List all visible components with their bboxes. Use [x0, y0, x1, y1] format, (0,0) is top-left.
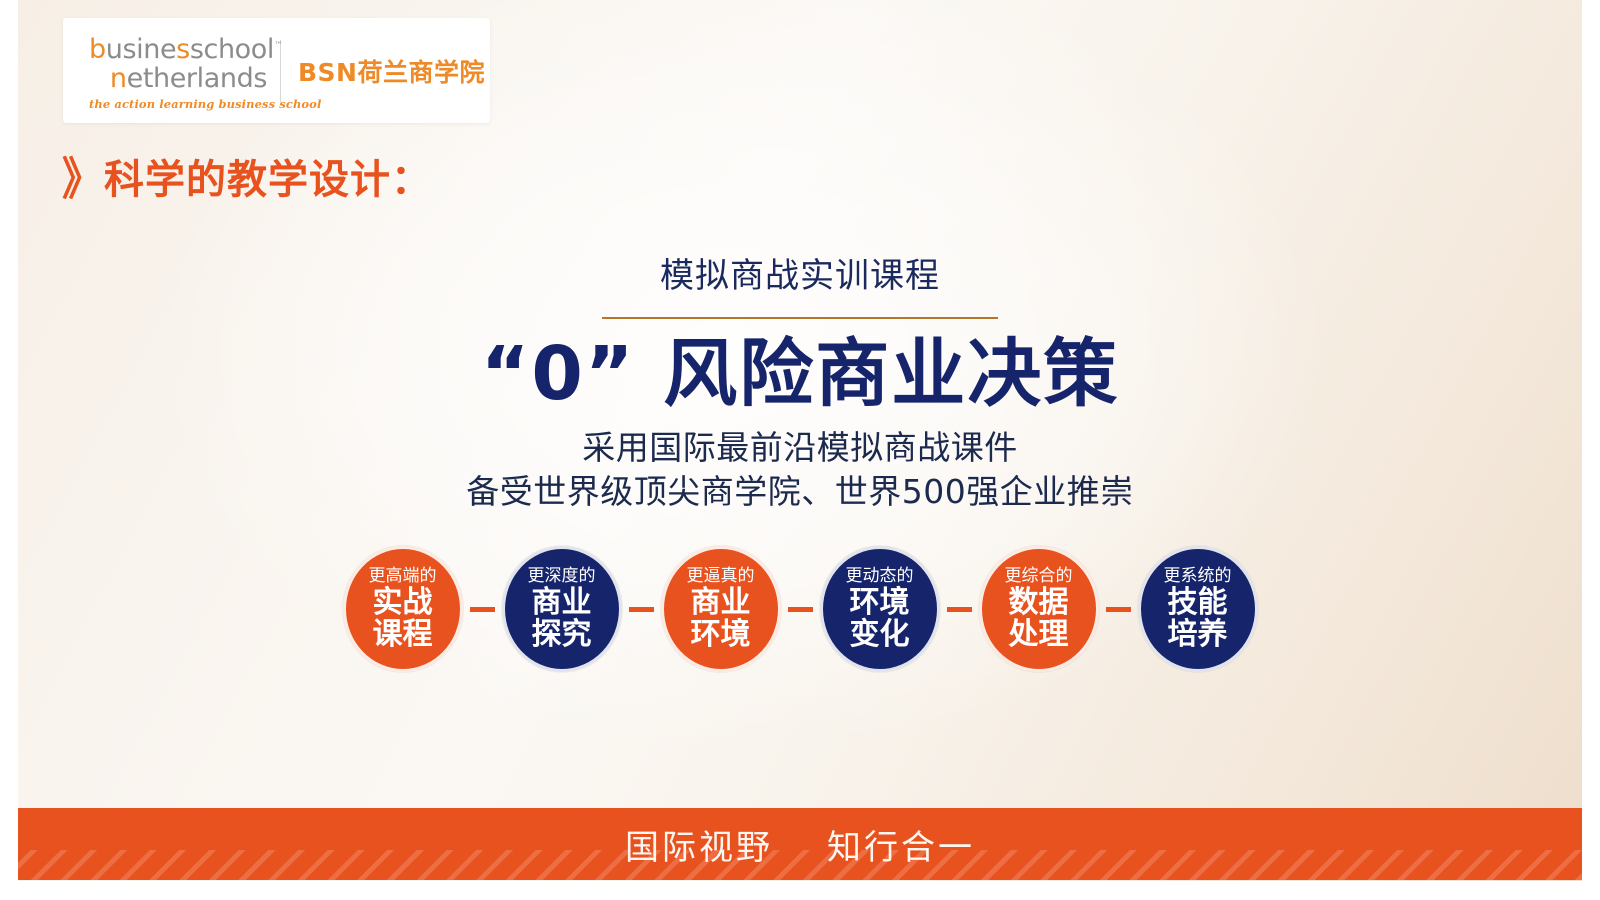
circle-connector-2 [629, 607, 654, 612]
feature-circle-1-main: 实战 课程 [373, 587, 433, 651]
feature-circle-6-main: 技能 培养 [1168, 587, 1228, 651]
feature-circle-2-top: 更深度的 [528, 568, 596, 585]
footer-slogan: 国际视野 知行合一 [18, 808, 1582, 880]
feature-circle-4-main-line2: 变化 [850, 619, 910, 651]
logo-chinese-name: BSN荷兰商学院 [298, 53, 485, 89]
logo-line-netherlands: netherlands [89, 65, 267, 93]
feature-circle-1-top: 更高端的 [369, 568, 437, 585]
circle-connector-3 [788, 607, 813, 612]
page-title: “0” 风险商业决策 [18, 333, 1582, 416]
feature-circle-6-main-line1: 技能 [1168, 587, 1228, 619]
brand-logo-card: businesschool™ netherlands the action le… [63, 18, 490, 123]
footer-slogan-part-2: 知行合一 [827, 820, 975, 869]
slide-canvas: businesschool™ netherlands the action le… [0, 0, 1600, 900]
logo-letter-n: n [110, 63, 127, 94]
feature-circle-5-main: 数据 处理 [1009, 587, 1069, 651]
logo-line-businesschool: businesschool™ [89, 32, 267, 64]
feature-circle-4: 更动态的 环境 变化 [820, 546, 940, 672]
logo-text-school: school [190, 34, 274, 65]
logo-text-usine: usine [106, 34, 176, 65]
feature-circle-2-main-line1: 商业 [532, 587, 592, 619]
feature-circle-3-main-line1: 商业 [691, 587, 751, 619]
feature-circle-5-main-line1: 数据 [1009, 587, 1069, 619]
double-chevron-right-icon: 》 [62, 158, 96, 203]
feature-circle-6-main-line2: 培养 [1168, 619, 1228, 651]
brand-logo-wordmark: businesschool™ netherlands the action le… [63, 30, 267, 111]
feature-circle-5-top: 更综合的 [1005, 568, 1073, 585]
feature-circle-3-main: 商业 环境 [691, 587, 751, 651]
footer-slogan-part-1: 国际视野 [625, 820, 773, 869]
feature-circle-2: 更深度的 商业 探究 [502, 546, 622, 672]
feature-circle-1: 更高端的 实战 课程 [343, 546, 463, 672]
feature-circle-4-top: 更动态的 [846, 568, 914, 585]
feature-circle-3-top: 更逼真的 [687, 568, 755, 585]
feature-circle-4-main: 环境 变化 [850, 587, 910, 651]
feature-circle-2-main: 商业 探究 [532, 587, 592, 651]
logo-letter-s: s [176, 34, 190, 65]
feature-circle-1-main-line2: 课程 [373, 619, 433, 651]
title-divider-rule [602, 317, 998, 319]
footer-bar: 国际视野 知行合一 [18, 808, 1582, 880]
logo-tagline: the action learning business school [89, 97, 267, 111]
center-content-block: 模拟商战实训课程 “0” 风险商业决策 采用国际最前沿模拟商战课件 备受世界级顶… [18, 258, 1582, 513]
feature-circle-3-main-line2: 环境 [691, 619, 751, 651]
feature-circles-row: 更高端的 实战 课程 更深度的 商业 探究 更逼真的 商业 环境 更动态的 [18, 546, 1582, 672]
course-subtitle: 模拟商战实训课程 [18, 258, 1582, 295]
description-line-2: 备受世界级顶尖商学院、世界500强企业推崇 [18, 470, 1582, 514]
feature-circle-5-main-line2: 处理 [1009, 619, 1069, 651]
logo-letter-b: b [89, 34, 106, 65]
feature-circle-6-top: 更系统的 [1164, 568, 1232, 585]
section-heading-label: 科学的教学设计： [104, 160, 432, 200]
trademark-icon: ™ [274, 41, 283, 51]
circle-connector-1 [470, 607, 495, 612]
circle-connector-5 [1106, 607, 1131, 612]
feature-circle-5: 更综合的 数据 处理 [979, 546, 1099, 672]
feature-circle-2-main-line2: 探究 [532, 619, 592, 651]
feature-circle-3: 更逼真的 商业 环境 [661, 546, 781, 672]
feature-circle-6: 更系统的 技能 培养 [1138, 546, 1258, 672]
section-heading: 》 科学的教学设计： [62, 160, 432, 200]
description-line-1: 采用国际最前沿模拟商战课件 [18, 426, 1582, 470]
circle-connector-4 [947, 607, 972, 612]
feature-circle-1-main-line1: 实战 [373, 587, 433, 619]
logo-text-etherlands: etherlands [127, 63, 267, 94]
feature-circle-4-main-line1: 环境 [850, 587, 910, 619]
